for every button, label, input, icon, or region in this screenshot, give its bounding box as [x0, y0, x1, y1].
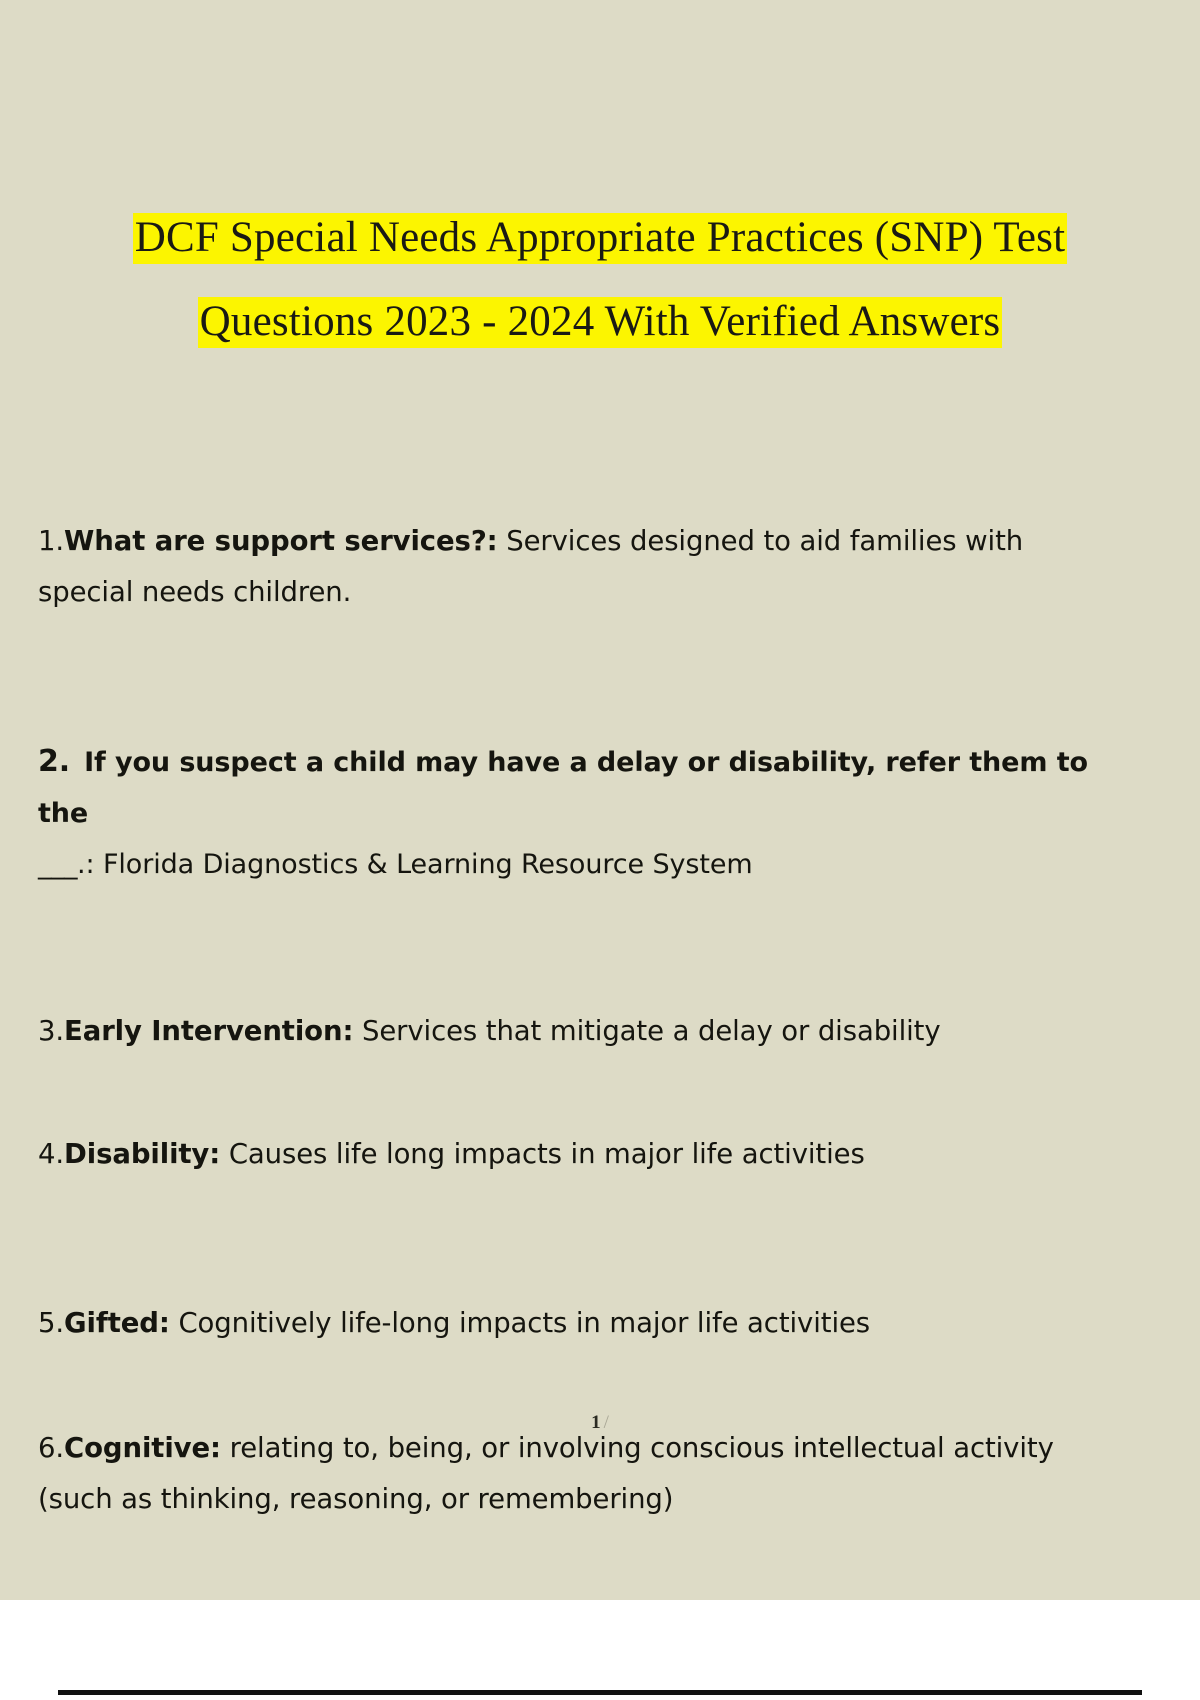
qa-item-blank: ___: [38, 849, 77, 880]
page-title: DCF Special Needs Appropriate Practices …: [0, 196, 1200, 364]
qa-item-number: 2.: [38, 736, 84, 787]
qa-item-term: Cognitive:: [64, 1432, 221, 1464]
page-number: 1: [591, 1412, 601, 1433]
qa-item-number: 4.: [38, 1129, 64, 1180]
page-gap: [0, 1600, 1200, 1700]
qa-item-number: 1.: [38, 516, 64, 567]
qa-item-term: Gifted:: [64, 1307, 170, 1339]
qa-item: 6.Cognitive: relating to, being, or invo…: [38, 1423, 1098, 1525]
qa-item-term: Disability:: [64, 1138, 220, 1170]
title-highlight-2: Questions 2023 - 2024 With Verified Answ…: [198, 297, 1003, 348]
qa-item: 4.Disability: Causes life long impacts i…: [38, 1129, 1098, 1180]
page-title-line-1: DCF Special Needs Appropriate Practices …: [0, 196, 1200, 280]
title-highlight-1: DCF Special Needs Appropriate Practices …: [133, 213, 1068, 264]
qa-list: 1.What are support services?: Services d…: [38, 516, 1098, 1525]
qa-item: 2.If you suspect a child may have a dela…: [38, 736, 1098, 890]
document-page: DCF Special Needs Appropriate Practices …: [0, 0, 1200, 1600]
bottom-divider: [58, 1690, 1142, 1695]
qa-item-term: Early Intervention:: [64, 1015, 353, 1047]
qa-item-answer: Cognitively life-long impacts in major l…: [170, 1307, 870, 1339]
qa-item-question: If you suspect a child may have a delay …: [38, 747, 1088, 829]
qa-item-answer: Services that mitigate a delay or disabi…: [353, 1015, 940, 1047]
qa-item: 1.What are support services?: Services d…: [38, 516, 1098, 618]
qa-item: 3.Early Intervention: Services that miti…: [38, 1006, 1098, 1057]
qa-item-term: What are support services?:: [64, 525, 498, 557]
page-separator: /: [601, 1412, 609, 1433]
qa-item-number: 3.: [38, 1006, 64, 1057]
qa-item-number: 5.: [38, 1298, 64, 1349]
qa-item: 5.Gifted: Cognitively life-long impacts …: [38, 1298, 1098, 1349]
qa-item-answer: .: Florida Diagnostics & Learning Resour…: [77, 849, 753, 880]
qa-item-answer: Causes life long impacts in major life a…: [220, 1138, 865, 1170]
page-footer: 1/: [0, 1412, 1200, 1434]
page-title-line-2: Questions 2023 - 2024 With Verified Answ…: [0, 280, 1200, 364]
